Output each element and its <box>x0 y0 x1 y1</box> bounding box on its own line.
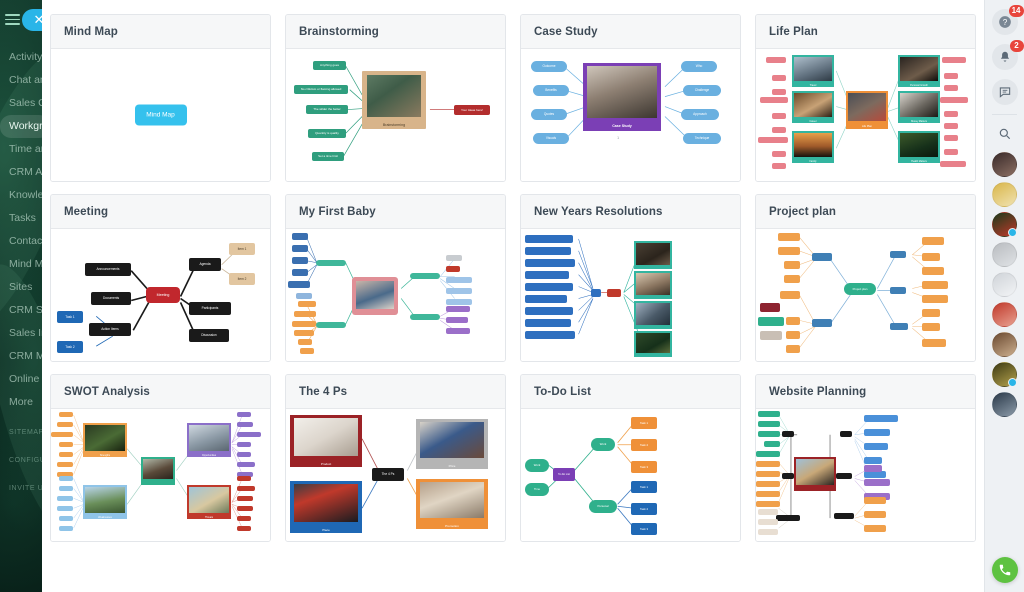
leaf-node-blue <box>525 271 569 279</box>
branch-image-health-matters: Health Matters <box>898 131 940 163</box>
thumb-website-planning <box>756 409 975 541</box>
phone-glyph <box>998 563 1012 577</box>
leaf-node-orange <box>786 331 800 339</box>
thumb-brainstorming: Brainstorming Anything goes No criticism… <box>286 49 505 181</box>
center-caption: Brainstorming <box>362 123 426 127</box>
leaf-node-orange <box>922 323 940 331</box>
leaf-node-orange <box>922 281 948 289</box>
branch-image <box>794 57 832 81</box>
center-image-frame: Life Plan <box>846 91 888 129</box>
sidebar-item-sales-intelligence[interactable]: Sales Intelligence <box>0 322 42 345</box>
avatar-9[interactable] <box>992 392 1017 417</box>
avatar-4[interactable] <box>992 242 1017 267</box>
node-meeting-center: Meeting <box>146 287 180 303</box>
quadrant-label: Weaknesses <box>83 516 127 519</box>
mindmap-card-mind-map[interactable]: Mind Map Mind Map <box>50 14 271 182</box>
center-image-frame: Brainstorming <box>362 71 426 129</box>
quadrant-label: Strengths <box>83 454 127 457</box>
leaf-node-blue <box>59 516 73 521</box>
leaf-node-blue <box>292 257 308 264</box>
card-header: Case Study <box>521 15 740 49</box>
center-image <box>848 93 886 121</box>
panel-label: Promotion <box>416 524 488 528</box>
quadrant-threats-frame: Threats <box>187 485 231 519</box>
thumb-todo: Work Time To-Do List Work Personal Task … <box>521 409 740 541</box>
tag-node <box>772 127 786 133</box>
leaf-node-purple <box>446 306 470 312</box>
leaf-node-green <box>758 431 780 437</box>
mindmap-grid: Mind Map Mind Map Brainstorming <box>50 14 976 542</box>
leaf-node-orange <box>294 311 316 317</box>
bell-icon[interactable]: 2 <box>992 44 1018 70</box>
avatar-7[interactable] <box>992 332 1017 357</box>
leaf-node-purple <box>237 442 251 447</box>
mindmap-card-meeting[interactable]: Meeting <box>50 194 271 362</box>
branch-node-green <box>410 273 440 279</box>
leaf-node-green <box>756 451 780 457</box>
panel-label: Product <box>290 462 362 466</box>
left-sidebar: ✕ Activity Stream Chat and Calls Sales C… <box>0 0 42 592</box>
status-indicator <box>1008 228 1017 237</box>
leaf-node-red <box>446 266 460 272</box>
quadrant-image <box>85 425 125 451</box>
leaf-node-red <box>237 516 251 521</box>
mindmap-card-new-years-resolutions[interactable]: New Years Resolutions <box>520 194 741 362</box>
leaf-node-blue <box>59 476 73 481</box>
sidebar-item-online-store[interactable]: Online Store <box>0 368 42 391</box>
sidebar-top: ✕ <box>0 0 42 40</box>
svg-text:?: ? <box>1002 18 1007 27</box>
branch-image <box>900 93 938 117</box>
branch-image-travel: Travel <box>792 55 834 87</box>
sidebar-item-chat-and-calls[interactable]: Chat and Calls <box>0 69 42 92</box>
branch-caption: Money Matters <box>898 120 940 123</box>
branch-image-frame <box>634 301 672 329</box>
thumb-project-plan: Project plan <box>756 229 975 361</box>
node-item-1: Item 1 <box>229 243 255 255</box>
card-header: SWOT Analysis <box>51 375 270 409</box>
sidebar-item-mind-maps[interactable]: Mind Maps <box>0 253 42 276</box>
leaf-node-blue <box>864 471 886 478</box>
panel-place-frame: Place <box>290 481 362 533</box>
branch-image-career: Career <box>792 91 834 123</box>
leaf-node-beige <box>760 331 782 340</box>
main-content: Mind Map Mind Map Brainstorming <box>42 0 984 592</box>
node-benefits: Benefits <box>533 85 569 96</box>
hamburger-icon[interactable] <box>5 14 20 25</box>
thumb-life-plan: Life Plan Travel Career Family <box>756 49 975 181</box>
panel-product-frame: Product <box>290 415 362 467</box>
avatar-5[interactable] <box>992 272 1017 297</box>
branch-image-frame <box>634 271 672 299</box>
leaf-node-orange <box>784 261 800 269</box>
mindmap-card-project-plan[interactable]: Project plan <box>755 194 976 362</box>
branch-node-green <box>410 314 440 320</box>
avatar-3[interactable] <box>992 212 1017 237</box>
leaf-node-blue <box>525 295 567 303</box>
card-title: SWOT Analysis <box>64 386 150 398</box>
leaf-node-blue <box>288 281 310 288</box>
leaf-node-orange <box>778 247 800 255</box>
branch-image-frame <box>634 241 672 269</box>
thumb-new-years <box>521 229 740 361</box>
panel-image <box>294 418 358 456</box>
node-center <box>607 289 621 297</box>
node-participants: Participants <box>189 302 231 315</box>
branch-node-blue <box>890 251 906 258</box>
leaf-node-purple <box>237 452 251 457</box>
tag-node <box>758 137 788 143</box>
leaf-node-orange <box>756 471 780 477</box>
leaf-node-orange <box>784 275 800 283</box>
branch-node-black <box>840 431 852 437</box>
tag-node <box>940 97 968 103</box>
thumb-swot: Strengths Weaknesses Opportunities Threa… <box>51 409 270 541</box>
card-thumbnail <box>521 229 740 361</box>
tag-node <box>772 75 786 81</box>
node-approach: Approach <box>681 109 719 120</box>
branch-image <box>636 243 670 265</box>
leaf-node-lightblue <box>446 299 472 305</box>
leaf-node-purple <box>446 317 468 323</box>
sidebar-item-time-and-reports[interactable]: Time and Reports <box>0 138 42 161</box>
leaf-node-orange <box>756 461 780 467</box>
leaf-node-orange <box>298 301 316 307</box>
card-title: Meeting <box>64 206 108 218</box>
leaf-node-beige <box>758 509 778 515</box>
tag-node <box>772 151 786 157</box>
leaf-node-lightblue <box>446 288 472 294</box>
leaf-node-orange <box>778 233 800 241</box>
leaf-node-purple <box>237 412 251 417</box>
card-header: Meeting <box>51 195 270 229</box>
branch-node-blue <box>890 323 908 330</box>
branch-node-green <box>316 322 346 328</box>
leaf-node-orange <box>864 525 886 532</box>
node-who: Who <box>681 61 717 72</box>
card-header: New Years Resolutions <box>521 195 740 229</box>
card-title: Life Plan <box>769 26 818 38</box>
leaf-node-lightblue <box>446 277 472 283</box>
quadrant-label: Opportunities <box>187 454 231 457</box>
node-action-items: Action Items <box>89 323 131 336</box>
leaf-node-orange <box>51 432 73 437</box>
thumb-my-first-baby <box>286 229 505 361</box>
branch-node-blue <box>890 287 906 294</box>
card-thumbnail: Product Place Price Promotion The 4 Ps <box>286 409 505 541</box>
quadrant-strengths-frame: Strengths <box>83 423 127 457</box>
leaf-node-orange <box>786 345 800 353</box>
card-thumbnail: Mind Map <box>51 49 270 181</box>
quadrant-image <box>85 487 125 513</box>
leaf-node-red <box>237 476 251 481</box>
card-title: New Years Resolutions <box>534 206 662 218</box>
branch-image <box>636 303 670 325</box>
leaf-node-lightblue <box>296 293 312 299</box>
quadrant-label: Threats <box>187 516 231 519</box>
quadrant-image <box>189 487 229 513</box>
card-thumbnail: Work Time To-Do List Work Personal Task … <box>521 409 740 541</box>
leaf-node-orange <box>922 253 940 261</box>
node-documents: Documents <box>91 292 131 305</box>
sidebar-item-crm-analytics[interactable]: CRM Analytics <box>0 161 42 184</box>
mindmap-card-to-do-list[interactable]: To-Do List <box>520 374 741 542</box>
card-thumbnail: Case Study 1 Outcome Benefits Quotes Vis… <box>521 49 740 181</box>
branch-image-family: Family <box>792 131 834 163</box>
node-work-branch: Work <box>591 438 615 451</box>
branch-image <box>900 133 938 157</box>
leaf-node-blue <box>864 443 888 450</box>
node-challenge: Challenge <box>683 85 721 96</box>
center-image-frame <box>794 457 836 491</box>
leaf-node-orange <box>294 330 314 336</box>
branch-caption: Personal Growth <box>898 84 940 87</box>
sidebar-item-activity-stream[interactable]: Activity Stream <box>0 46 42 69</box>
card-header: Project plan <box>756 195 975 229</box>
leaf-node-purple <box>237 422 253 427</box>
node-outcome: Outcome <box>531 61 567 72</box>
branch-node-black <box>782 473 794 479</box>
leaf-node-purple <box>864 479 890 486</box>
branch-node-blue <box>812 319 832 327</box>
leaf-node-orange <box>292 321 316 327</box>
card-thumbnail <box>756 409 975 541</box>
card-title: Brainstorming <box>299 26 379 38</box>
thumb-case-study: Case Study 1 Outcome Benefits Quotes Vis… <box>521 49 740 181</box>
leaf-node-orange <box>756 501 780 507</box>
node-item-2: Item 2 <box>229 273 255 285</box>
avatar-6[interactable] <box>992 302 1017 327</box>
leaf-node-blue <box>525 283 573 291</box>
node-orange-task-1: Task 1 <box>631 417 657 429</box>
avatar-8[interactable] <box>992 362 1017 387</box>
tag-node <box>944 73 958 79</box>
card-thumbnail: Meeting Announcements Documents Action I… <box>51 229 270 361</box>
leaf-node-blue <box>525 331 575 339</box>
chat-icon[interactable] <box>992 79 1018 105</box>
tag-node <box>772 163 786 169</box>
leaf-node-orange <box>57 422 73 427</box>
node-work-oval: Work <box>525 459 549 472</box>
sidebar-item-sites[interactable]: Sites <box>0 276 42 299</box>
branch-caption: Family <box>792 160 834 163</box>
branch-node-black <box>776 515 800 521</box>
branch-node-black <box>782 431 794 437</box>
node-project-plan-center: Project plan <box>844 283 876 295</box>
card-header: My First Baby <box>286 195 505 229</box>
thumb-meeting: Meeting Announcements Documents Action I… <box>51 229 270 361</box>
tag-node <box>760 97 788 103</box>
leaf-node-blue <box>525 259 575 267</box>
tag-node <box>944 85 958 91</box>
center-image <box>356 281 394 309</box>
branch-caption: Travel <box>792 84 834 87</box>
leaf-node-purple <box>237 462 255 467</box>
close-button[interactable]: ✕ <box>22 9 42 31</box>
leaf-node-blue <box>525 235 573 243</box>
sidebar-item-sales-center[interactable]: Sales Center <box>0 92 42 115</box>
bell-glyph <box>998 50 1012 64</box>
leaf-node-beige <box>758 529 778 535</box>
card-title: Mind Map <box>64 26 118 38</box>
panel-label: Place <box>290 528 362 532</box>
leaf-node-maroon <box>760 303 780 312</box>
leaf-node-orange <box>298 339 312 345</box>
card-thumbnail: Life Plan Travel Career Family <box>756 49 975 181</box>
mindmap-card-my-first-baby[interactable]: My First Baby <box>285 194 506 362</box>
mindmap-card-life-plan[interactable]: Life Plan Life Plan <box>755 14 976 182</box>
mindmap-card-brainstorming[interactable]: Brainstorming Brainstorming A <box>285 14 506 182</box>
leaf-node-blue <box>57 496 73 501</box>
card-header: Brainstorming <box>286 15 505 49</box>
panel-image <box>420 482 484 518</box>
avatar-2[interactable] <box>992 182 1017 207</box>
leaf-node-red <box>237 496 253 501</box>
leaf-node-blue <box>59 526 73 531</box>
card-title: Project plan <box>769 206 836 218</box>
card-title: To-Do List <box>534 386 591 398</box>
node-anything-goes: Anything goes <box>313 61 346 70</box>
tag-node <box>940 161 966 167</box>
leaf-node-purple <box>237 432 261 437</box>
branch-image <box>794 133 832 157</box>
sidebar-item-contact-center[interactable]: Contact Center <box>0 230 42 253</box>
card-header: Website Planning <box>756 375 975 409</box>
leaf-node-orange <box>756 481 780 487</box>
center-image <box>143 459 173 479</box>
center-caption: Case Study <box>583 124 661 128</box>
leaf-node-red <box>237 526 251 531</box>
branch-caption: Career <box>792 120 834 123</box>
sidebar-item-tasks[interactable]: Tasks <box>0 207 42 230</box>
leaf-node-orange <box>59 442 73 447</box>
leaf-node-orange <box>300 348 314 354</box>
leaf-node-blue <box>292 269 308 276</box>
branch-image <box>794 93 832 117</box>
bell-badge: 2 <box>1010 40 1024 52</box>
search-icon[interactable] <box>992 121 1018 147</box>
mindmap-card-case-study[interactable]: Case Study Case Study 1 Outcome <box>520 14 741 182</box>
center-image <box>367 75 421 117</box>
leaf-node-blue <box>292 245 308 252</box>
center-image-frame <box>141 457 175 485</box>
leaf-node-orange <box>59 452 73 457</box>
mindmap-card-the-4-ps[interactable]: The 4 Ps Product Pla <box>285 374 506 542</box>
tag-node <box>766 57 786 63</box>
center-image-frame <box>352 277 398 315</box>
status-indicator <box>1008 378 1017 387</box>
node-branch <box>591 289 601 297</box>
card-title: My First Baby <box>299 206 376 218</box>
branch-node-blue <box>812 253 832 261</box>
leaf-node-orange <box>786 317 800 325</box>
center-image-frame: Case Study <box>583 63 661 131</box>
tag-node <box>944 149 958 155</box>
tag-node <box>772 89 786 95</box>
center-caption: Life Plan <box>846 125 888 128</box>
help-glyph: ? <box>998 15 1012 29</box>
mindmap-card-swot-analysis[interactable]: SWOT Analysis <box>50 374 271 542</box>
help-badge: 14 <box>1009 5 1024 17</box>
card-header: To-Do List <box>521 375 740 409</box>
help-icon[interactable]: ? 14 <box>992 9 1018 35</box>
card-title: The 4 Ps <box>299 386 347 398</box>
phone-icon[interactable] <box>992 557 1018 583</box>
leaf-node-purple <box>864 465 882 472</box>
branch-node-black <box>836 473 852 479</box>
tag-node <box>944 111 958 117</box>
node-visuals: Visuals <box>533 133 569 144</box>
node-todo-center: To-Do List <box>553 468 575 481</box>
node-your-ideas-here: Your Ideas here! <box>454 105 490 115</box>
node-task-1: Task 1 <box>57 311 83 323</box>
node-no-criticism: No criticism or flaming allowed <box>294 85 348 94</box>
node-orange-task-2: Task 2 <box>631 439 657 451</box>
card-thumbnail: Project plan <box>756 229 975 361</box>
leaf-node-blue <box>525 319 571 327</box>
avatar-1[interactable] <box>992 152 1017 177</box>
sidebar-item-knowledge-base[interactable]: Knowledge Base <box>0 184 42 207</box>
leaf-node-red <box>237 486 255 491</box>
node-announcements: Announcements <box>85 263 131 276</box>
branch-image-frame <box>634 331 672 357</box>
branch-image <box>900 57 938 81</box>
quadrant-opportunities-frame: Opportunities <box>187 423 231 457</box>
leaf-node-gray <box>446 255 462 261</box>
node-mind-map: Mind Map <box>135 105 187 126</box>
panel-price-frame: Price <box>416 419 488 469</box>
mindmap-card-website-planning[interactable]: Website Planning <box>755 374 976 542</box>
leaf-node-green <box>758 411 780 417</box>
node-wilder-better: The wilder the better <box>306 105 348 114</box>
sidebar-item-workgroups[interactable]: Workgroups <box>0 115 42 138</box>
node-discussion: Discussion <box>189 329 229 342</box>
node-technique: Technique <box>683 133 721 144</box>
tag-node <box>944 123 958 129</box>
leaf-node-blue <box>292 233 308 240</box>
branch-image <box>636 273 670 295</box>
leaf-node-purple <box>446 328 470 334</box>
node-blue-task-1: Task 1 <box>631 481 657 493</box>
branch-node-green <box>316 260 346 266</box>
branch-caption: Health Matters <box>898 160 940 163</box>
leaf-node-orange <box>780 291 800 299</box>
chat-glyph <box>998 85 1012 99</box>
leaf-node-blue <box>864 429 890 436</box>
thumb-four-ps: Product Place Price Promotion The 4 Ps <box>286 409 505 541</box>
node-personal-branch: Personal <box>589 500 617 513</box>
center-image <box>587 66 657 118</box>
center-image <box>796 459 834 485</box>
quadrant-weaknesses-frame: Weaknesses <box>83 485 127 519</box>
branch-image <box>636 333 670 353</box>
leaf-node-blue <box>525 247 571 255</box>
leaf-node-blue <box>525 307 573 315</box>
leaf-node-orange <box>922 267 944 275</box>
card-title: Website Planning <box>769 386 866 398</box>
node-orange-task-3: Task 3 <box>631 461 657 473</box>
node-blue-task-2: Task 2 <box>631 503 657 515</box>
leaf-node-orange <box>922 309 940 317</box>
leaf-node-blue <box>59 486 73 491</box>
right-sidebar: ? 14 2 <box>984 0 1024 592</box>
search-glyph <box>998 127 1012 141</box>
sidebar-item-more[interactable]: More <box>0 391 42 414</box>
sidebar-item-crm-marketing[interactable]: CRM Marketing <box>0 345 42 368</box>
sidebar-item-crm-store[interactable]: CRM Store <box>0 299 42 322</box>
node-time-oval: Time <box>525 483 549 496</box>
card-header: Life Plan <box>756 15 975 49</box>
